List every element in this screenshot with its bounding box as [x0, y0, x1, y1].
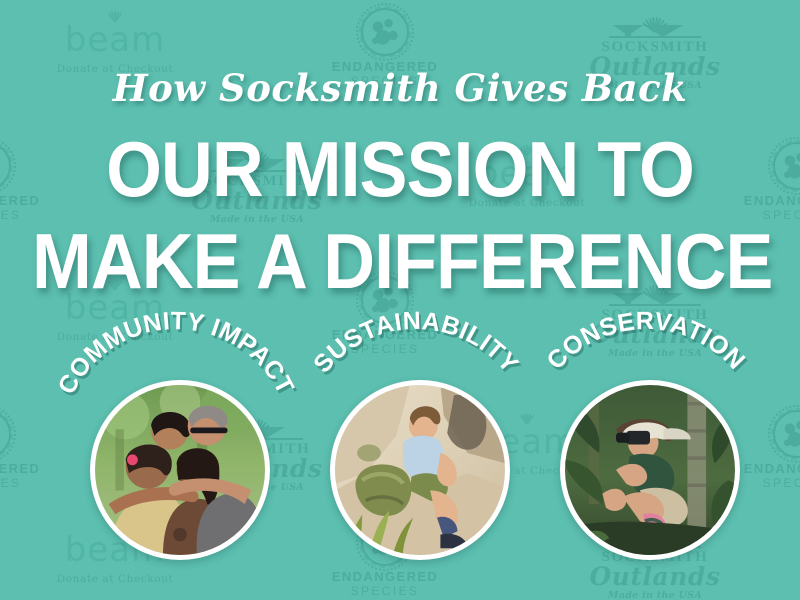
card-label-sustainability: SUSTAINABILITY	[294, 330, 544, 470]
page-title-line-2: MAKE A DIFFERENCE	[32, 216, 768, 307]
card-label-community-impact: COMMUNITY IMPACT	[54, 330, 304, 470]
promo-banner: SOCKSMITHOutlandsMade in the USAbeamDona…	[0, 0, 800, 600]
svg-text:SUSTAINABILITY: SUSTAINABILITY	[308, 307, 524, 378]
banner-content: How Socksmith Gives Back OUR MISSION TO …	[0, 0, 800, 600]
card-sustainability[interactable]: SUSTAINABILITY SUSTAINABILITY	[302, 352, 534, 584]
eyebrow-script-title: How Socksmith Gives Back	[0, 66, 800, 110]
svg-text:COMMUNITY IMPACT: COMMUNITY IMPACT	[53, 307, 300, 399]
svg-text:CONSERVATION: CONSERVATION	[541, 307, 750, 375]
card-community-impact[interactable]: COMMUNITY IMPACT COMMUNITY IMPACT	[62, 352, 294, 584]
card-conservation[interactable]: CONSERVATION CONSERVATION	[532, 352, 764, 584]
card-label-conservation: CONSERVATION	[524, 330, 774, 470]
page-title-line-1: OUR MISSION TO	[32, 124, 768, 215]
